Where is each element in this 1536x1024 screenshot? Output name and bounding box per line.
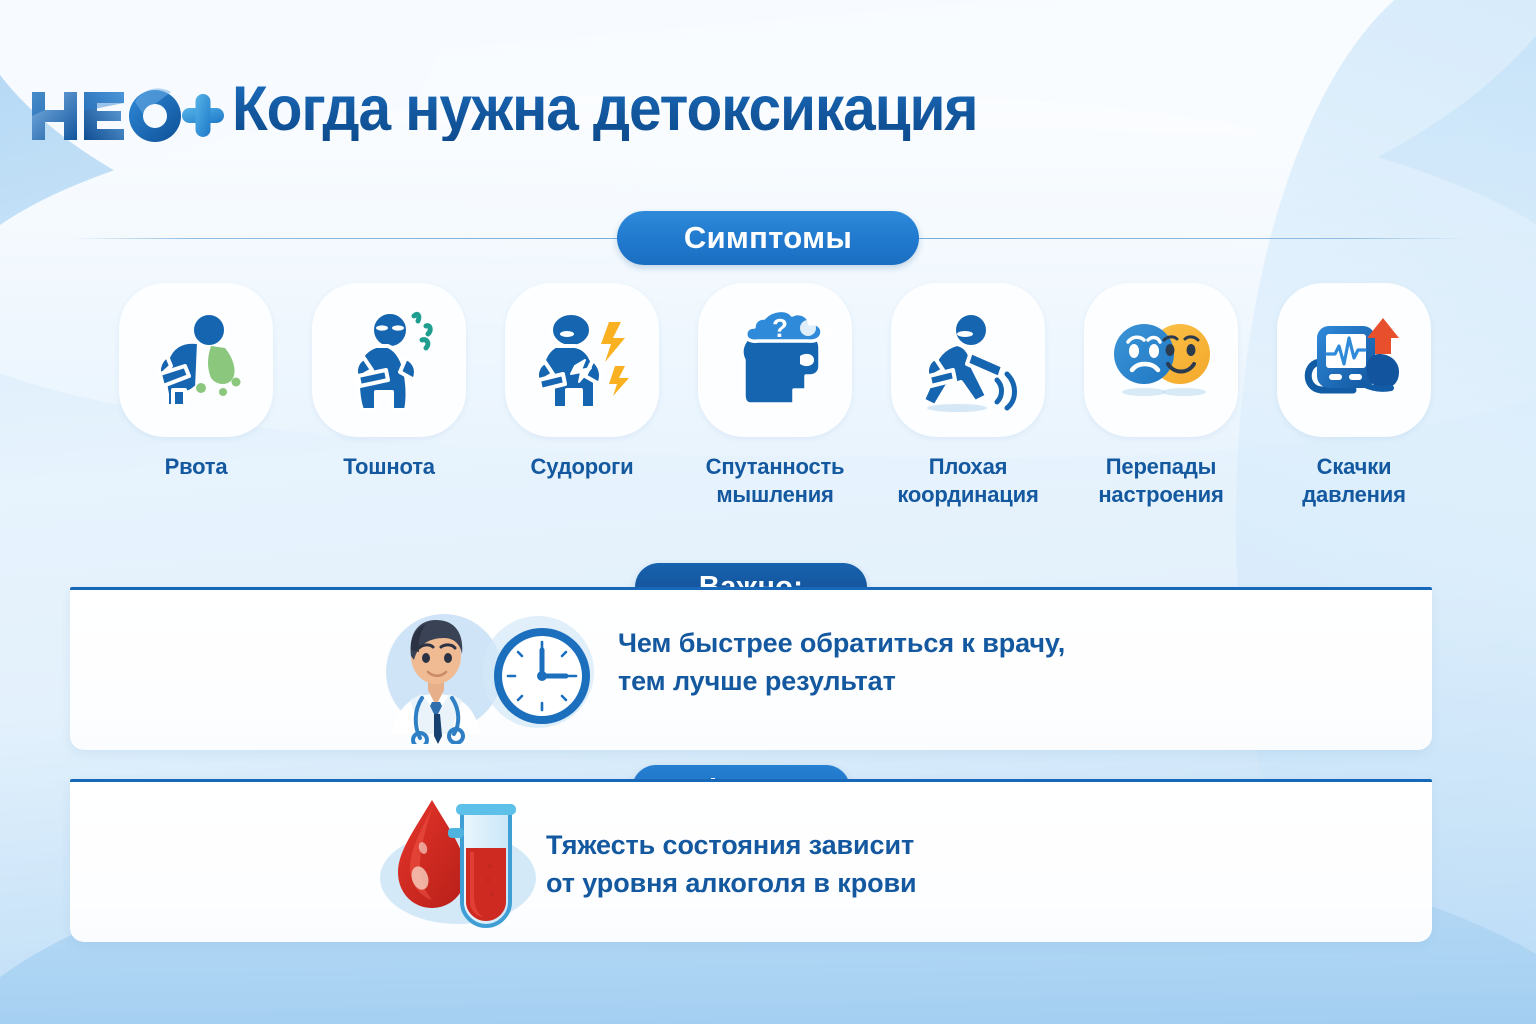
symptom-item-seizure[interactable]: Судороги	[501, 283, 663, 528]
symptom-label: Скачки давления	[1273, 453, 1435, 509]
doctor-with-clock-illustration	[370, 594, 630, 744]
divider-left	[70, 238, 617, 239]
important-text-line2: тем лучше результат	[618, 662, 1065, 700]
symptom-label-line2: настроения	[1098, 482, 1223, 507]
symptom-item-confusion[interactable]: ? Спутанность мышления	[694, 283, 856, 528]
symptom-card	[505, 283, 659, 437]
page-title: Когда нужна детоксикация	[232, 78, 977, 141]
symptom-label-line1: Скачки	[1317, 454, 1392, 479]
symptoms-badge: Симптомы	[617, 211, 919, 265]
symptom-item-mood-swings[interactable]: Перепады настроения	[1080, 283, 1242, 528]
important-panel: Чем быстрее обратиться к врачу, тем лучш…	[70, 587, 1432, 750]
symptom-card	[1277, 283, 1431, 437]
header: Когда нужна детоксикация	[0, 0, 1536, 200]
symptom-card	[891, 283, 1045, 437]
symptom-label: Рвота	[165, 453, 228, 481]
symptom-card	[119, 283, 273, 437]
fact-text: Тяжесть состояния зависит от уровня алко…	[546, 826, 916, 903]
symptom-label: Плохая координация	[887, 453, 1049, 509]
important-text-line1: Чем быстрее обратиться к врачу,	[618, 624, 1065, 662]
symptom-item-nausea[interactable]: Тошнота	[308, 283, 470, 528]
svg-text:?: ?	[772, 313, 788, 343]
symptom-label: Перепады настроения	[1080, 453, 1242, 509]
symptom-label-line2: координация	[897, 482, 1038, 507]
fact-text-line1: Тяжесть состояния зависит	[546, 826, 916, 864]
symptom-label: Судороги	[531, 453, 634, 481]
symptom-label: Тошнота	[343, 453, 435, 481]
infographic-canvas: Когда нужна детоксикация Симптомы	[0, 0, 1536, 1024]
symptom-label-line2: мышления	[716, 482, 833, 507]
divider-right	[919, 238, 1466, 239]
fact-text-line2: от уровня алкоголя в крови	[546, 864, 916, 902]
symptom-label-line1: Спутанность	[706, 454, 845, 479]
symptom-card	[1084, 283, 1238, 437]
symptom-item-poor-coordination[interactable]: Плохая координация	[887, 283, 1049, 528]
symptom-label-line2: давления	[1302, 482, 1405, 507]
symptoms-grid: Рвота	[115, 283, 1435, 528]
symptoms-section-header: Симптомы	[0, 211, 1536, 265]
symptom-label-line1: Перепады	[1106, 454, 1216, 479]
symptom-label: Спутанность мышления	[694, 453, 856, 509]
neo-plus-logo	[30, 86, 226, 146]
symptom-card	[312, 283, 466, 437]
symptom-item-vomiting[interactable]: Рвота	[115, 283, 277, 528]
important-text: Чем быстрее обратиться к врачу, тем лучш…	[618, 624, 1065, 701]
symptom-item-blood-pressure[interactable]: Скачки давления	[1273, 283, 1435, 528]
symptom-label-line1: Плохая	[929, 454, 1008, 479]
fact-panel: Тяжесть состояния зависит от уровня алко…	[70, 779, 1432, 942]
symptom-card: ?	[698, 283, 852, 437]
